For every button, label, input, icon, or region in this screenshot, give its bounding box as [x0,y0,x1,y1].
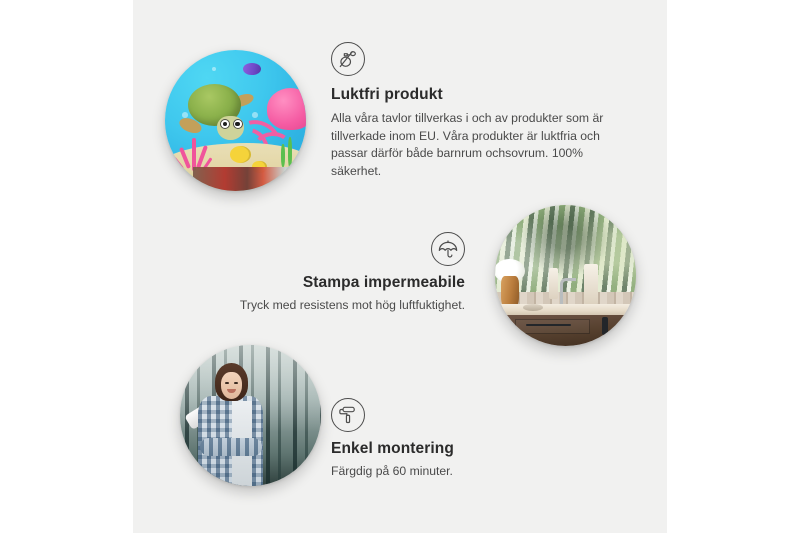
coral-icon [176,129,213,171]
product-photo-forest-installer [180,345,321,486]
woman-face [221,372,242,399]
scene-foreground-strip [193,167,306,191]
product-photo-bathroom [495,205,636,346]
woman-eye [234,382,238,385]
feature-mounting: Enkel montering Färgdig på 60 minuter. [331,398,611,481]
feature-waterproof: Stampa impermeabile Tryck med resistens … [180,232,465,315]
no-smell-perfume-bottle-icon [331,42,365,76]
faucet-icon [560,278,576,304]
seaweed-icon [281,144,285,167]
paint-roller-icon [331,398,365,432]
feature-description: Färgdig på 60 minuter. [331,463,611,481]
feature-description: Alla våra tavlor tillverkas i och av pro… [331,110,623,181]
cabinet-handle [602,317,608,334]
soap-dish [523,304,543,311]
bubble-icon [212,67,216,71]
feature-title: Stampa impermeabile [180,274,465,292]
bubble-icon [252,112,258,118]
soap-bottle [584,264,598,303]
drawer-handle [526,324,571,326]
cabinet-drawer [515,319,590,334]
cabinet-handle [625,317,631,334]
feature-title: Enkel montering [331,440,611,458]
soap-bottle [549,268,559,299]
yellow-fish-icon [230,146,251,163]
feature-description: Tryck med resistens mot hög luftfuktighe… [180,297,465,315]
feature-title: Luktfri produkt [331,86,623,104]
vanity-cabinet [503,315,636,346]
woman-crossed-arms [200,438,262,456]
promo-graphic: Luktfri produkt Alla våra tavlor tillver… [0,0,800,533]
umbrella-icon [431,232,465,266]
turtle-eye [220,119,230,129]
woman-eye [225,382,229,385]
feature-odourless: Luktfri produkt Alla våra tavlor tillver… [331,42,623,181]
octopus-head [267,88,306,130]
turtle-eye [233,119,243,129]
seaweed-icon [288,137,292,168]
product-photo-underwater [165,50,306,191]
octopus-eye [304,103,306,107]
